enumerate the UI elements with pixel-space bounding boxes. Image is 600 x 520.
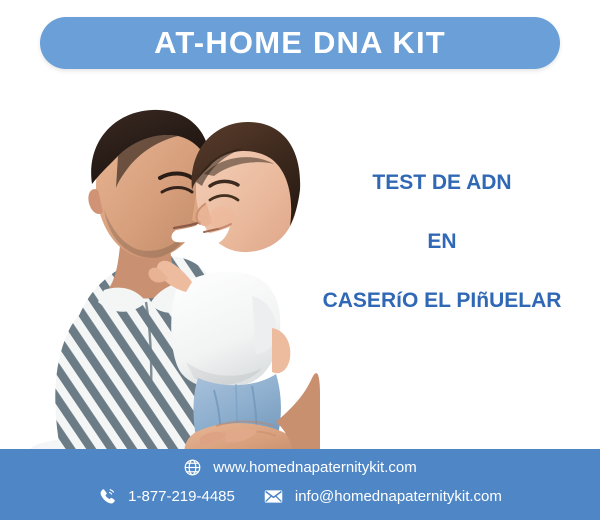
email-contact[interactable]: info@homednapaternitykit.com <box>263 486 502 507</box>
footer-website-row: www.homednapaternitykit.com <box>0 458 600 477</box>
phone-icon <box>98 487 117 506</box>
envelope-icon <box>263 486 284 507</box>
headline-block: TEST DE ADN EN CASERíO EL PIñUELAR <box>296 160 588 311</box>
contact-footer: www.homednapaternitykit.com 1-877-219-44… <box>0 449 600 520</box>
family-photo <box>0 78 320 460</box>
title-banner: AT-HOME DNA KIT <box>40 17 560 69</box>
website-label: www.homednapaternitykit.com <box>213 459 416 476</box>
footer-contact-row: 1-877-219-4485 info@homednapaternitykit.… <box>0 486 600 507</box>
headline-line-2: EN <box>296 231 588 252</box>
phone-contact[interactable]: 1-877-219-4485 <box>98 487 235 506</box>
page-title: AT-HOME DNA KIT <box>154 25 446 61</box>
globe-icon <box>183 458 202 477</box>
headline-line-3: CASERíO EL PIñUELAR <box>296 290 588 311</box>
flyer-canvas: AT-HOME DNA KIT <box>0 0 600 520</box>
headline-line-1: TEST DE ADN <box>296 172 588 193</box>
phone-label: 1-877-219-4485 <box>128 488 235 505</box>
website-contact[interactable]: www.homednapaternitykit.com <box>183 458 416 477</box>
email-label: info@homednapaternitykit.com <box>295 488 502 505</box>
